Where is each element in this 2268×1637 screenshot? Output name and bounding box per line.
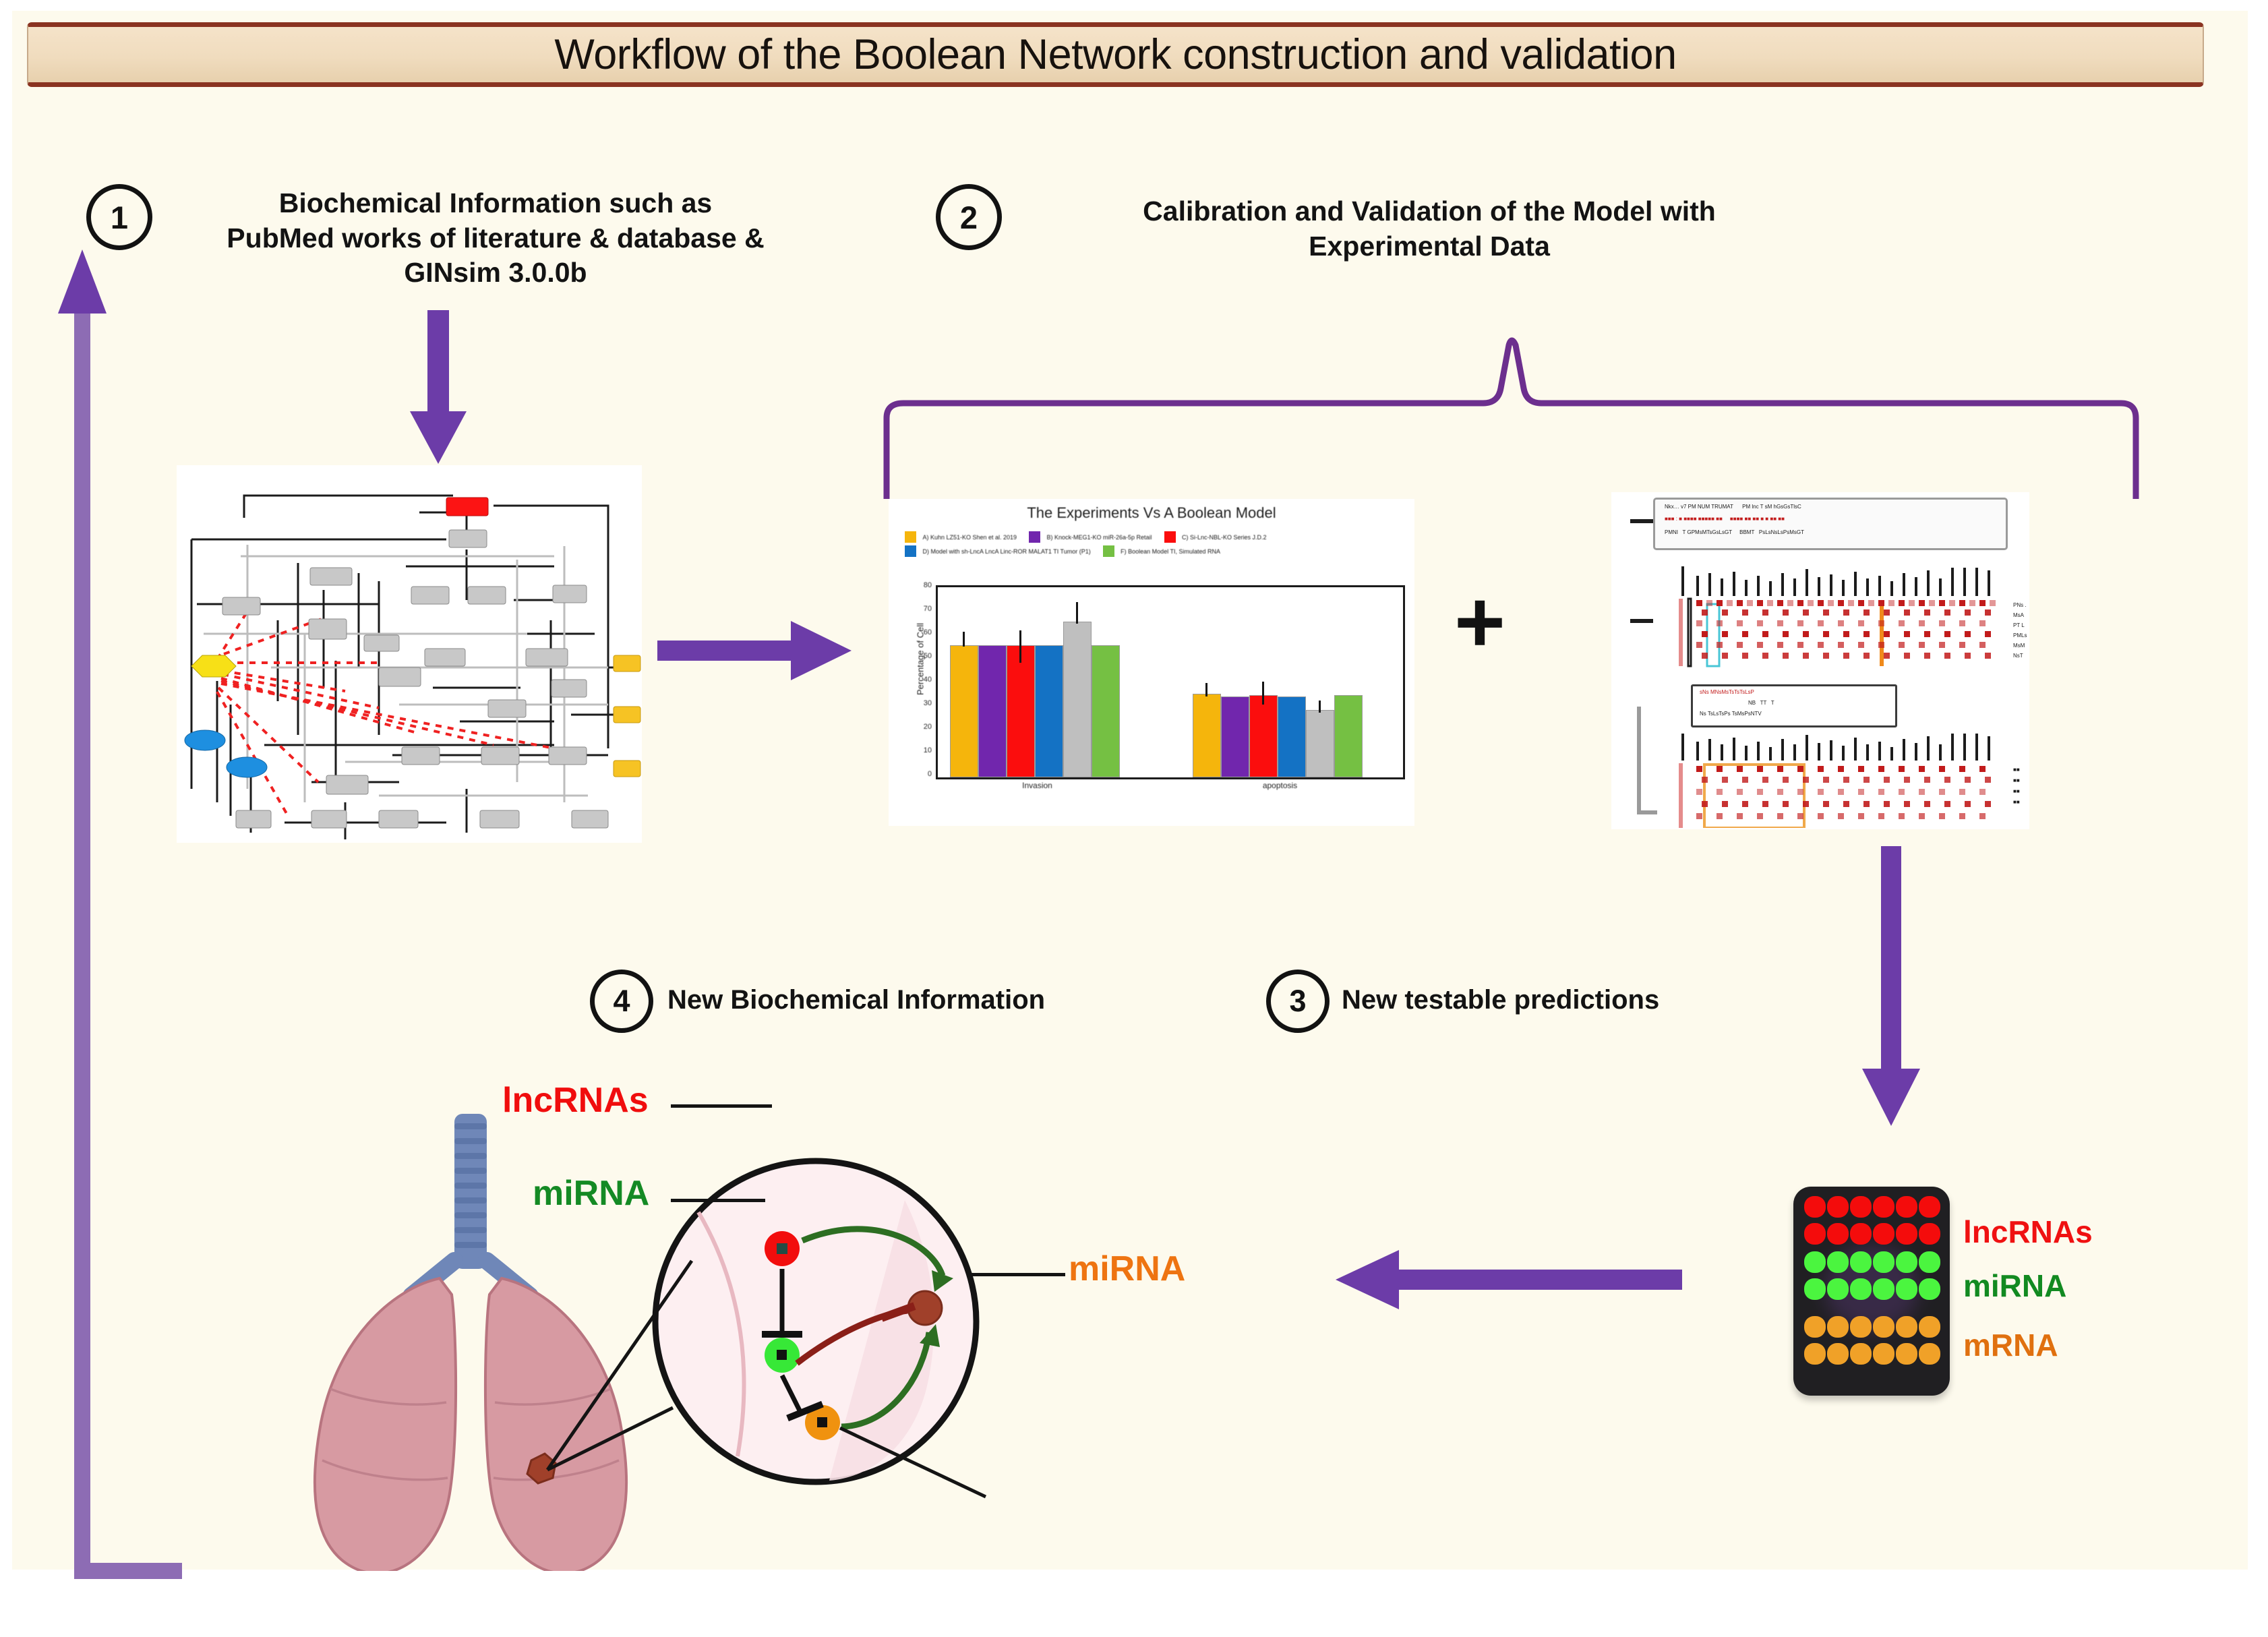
alignment-caption-bottom: sNs MNsMsTsTsTsLsP NB TT T Ns TsLsTsPs T… (1691, 684, 1897, 727)
array-spot (1827, 1343, 1849, 1365)
array-spot (1896, 1196, 1917, 1218)
step-2-badge: 2 (936, 184, 1002, 250)
array-spot (1804, 1251, 1826, 1273)
experiments-vs-model-chart-panel: The Experiments Vs A Boolean Model A) Ku… (889, 499, 1414, 826)
array-spot (1804, 1316, 1826, 1338)
step-3-number: 3 (1289, 984, 1306, 1019)
error-bar (1319, 701, 1321, 713)
y-tick: 20 (924, 723, 932, 731)
array-spot (1896, 1251, 1917, 1273)
step-3-heading: New testable predictions (1342, 983, 1773, 1017)
bar (1249, 695, 1278, 777)
error-bar (1205, 683, 1207, 696)
array-spot (1827, 1223, 1849, 1245)
legend-swatch-icon (1029, 531, 1040, 543)
cell-leader-mirna-green (671, 1199, 765, 1202)
cell-label-lncrnas: lncRNAs (502, 1080, 649, 1121)
y-tick: 60 (924, 628, 932, 636)
alignment-heatmap-bottom: ■■■■■■■■ (1679, 734, 2016, 828)
bar-group-invasion (950, 587, 1129, 777)
step-2-line-1: Calibration and Validation of the Model … (1032, 194, 1827, 229)
step-3-badge: 3 (1266, 970, 1330, 1033)
array-spot (1873, 1196, 1894, 1218)
step-2-heading: Calibration and Validation of the Model … (1032, 194, 1827, 264)
array-spot (1850, 1196, 1872, 1218)
legend-item: D) Model with sh-LncA LncA Linc-ROR MALA… (905, 545, 1091, 558)
array-spot (1896, 1316, 1917, 1338)
error-bar (1019, 630, 1021, 663)
array-spot (1873, 1223, 1894, 1245)
figure-title-banner: Workflow of the Boolean Network construc… (27, 22, 2204, 87)
array-spot (1850, 1316, 1872, 1338)
array-spot (1896, 1343, 1917, 1365)
array-spot (1873, 1316, 1894, 1338)
step-1-heading: Biochemical Information such as PubMed w… (165, 186, 826, 291)
arrow-down-to-microarray (1847, 846, 1935, 1129)
microarray-label-mirna: miRNA (1963, 1268, 2066, 1304)
bar (1035, 645, 1063, 777)
legend-label: B) Knock-MEG1-KO miR-26a-5p Retail (1047, 534, 1152, 541)
legend-item: A) Kuhn LZ51-KO Shen et al. 2019 (905, 531, 1017, 543)
array-spot (1850, 1343, 1872, 1365)
y-tick: 70 (924, 605, 932, 613)
legend-item: F) Boolean Model TI, Simulated RNA (1103, 545, 1220, 558)
array-spot (1919, 1316, 1940, 1338)
lung-cell-illustration (290, 1038, 1045, 1571)
alignment-bracket-foot (1637, 810, 1657, 814)
array-spot (1919, 1223, 1940, 1245)
bar (1221, 696, 1249, 777)
alignment-bracket-left-top (1630, 519, 1653, 523)
legend-swatch-icon (905, 531, 916, 543)
chart-x-tick-invasion: Invasion (948, 781, 1127, 790)
page-title: Workflow of the Boolean Network construc… (554, 30, 1676, 79)
plus-sign-icon: + (1443, 587, 1517, 657)
array-spot (1804, 1196, 1826, 1218)
bar (1334, 695, 1363, 777)
legend-label: C) Si-Lnc-NBL-KO Series J.D.2 (1182, 534, 1267, 541)
array-spot (1804, 1223, 1826, 1245)
boolean-network-panel (177, 465, 642, 843)
y-tick: 50 (924, 652, 932, 660)
alignment-truth-table-panel: Nkx… v7 PM NUM TRUMAT PM lnc T sM hGsGsT… (1611, 492, 2029, 829)
array-spot (1827, 1196, 1849, 1218)
arrow-down-to-network (398, 310, 479, 465)
array-spot (1827, 1251, 1849, 1273)
array-spot (1850, 1251, 1872, 1273)
figure-root: Workflow of the Boolean Network construc… (0, 0, 2268, 1637)
legend-item: C) Si-Lnc-NBL-KO Series J.D.2 (1164, 531, 1267, 543)
legend-label: F) Boolean Model TI, Simulated RNA (1121, 548, 1220, 555)
step-2-brace (870, 330, 2151, 499)
microarray-label-mrna: mRNA (1963, 1327, 2058, 1363)
alignment-row-labels-bottom: ■■■■■■■■ (2013, 765, 2029, 808)
bar-group-apoptosis (1193, 587, 1371, 777)
chart-title: The Experiments Vs A Boolean Model (889, 504, 1414, 522)
array-spot (1919, 1278, 1940, 1300)
step-4-badge: 4 (590, 970, 653, 1033)
microarray-chip (1793, 1187, 1950, 1396)
y-tick: 10 (924, 746, 932, 754)
legend-label: A) Kuhn LZ51-KO Shen et al. 2019 (922, 534, 1017, 541)
bar (1306, 710, 1334, 777)
microarray-label-lncrnas: lncRNAs (1963, 1214, 2093, 1250)
step-4-number: 4 (613, 984, 630, 1019)
error-bar (963, 632, 965, 647)
step-1-line-1: Biochemical Information such as (165, 186, 826, 221)
error-bar (1076, 602, 1078, 624)
chart-x-tick-apoptosis: apoptosis (1191, 781, 1369, 790)
bar (1007, 645, 1035, 777)
alignment-caption-top: Nkx… v7 PM NUM TRUMAT PM lnc T sM hGsGsT… (1653, 498, 2008, 550)
bar (978, 645, 1007, 777)
cell-label-mirna-orange: miRNA (1069, 1249, 1185, 1289)
array-spot (1827, 1316, 1849, 1338)
array-spot (1850, 1223, 1872, 1245)
cell-leader-lncrnas (671, 1104, 772, 1108)
arrow-left-to-cell (1332, 1239, 1682, 1320)
alignment-bracket-left-bottom (1637, 707, 1641, 814)
step-1-line-2: PubMed works of literature & database & (165, 221, 826, 256)
chart-plot-area (936, 585, 1405, 779)
y-tick: 40 (924, 676, 932, 684)
array-spot (1873, 1343, 1894, 1365)
step-4-heading: New Biochemical Information (667, 983, 1153, 1017)
legend-item: B) Knock-MEG1-KO miR-26a-5p Retail (1029, 531, 1152, 543)
array-spot (1896, 1223, 1917, 1245)
bar (1193, 694, 1221, 777)
array-spot (1896, 1278, 1917, 1300)
y-tick: 30 (924, 699, 932, 707)
arrow-return-to-step-1 (47, 222, 236, 1591)
y-tick: 80 (924, 581, 932, 589)
step-1-line-3: GINsim 3.0.0b (165, 256, 826, 291)
array-spot (1919, 1251, 1940, 1273)
cell-label-mirna-green: miRNA (533, 1173, 649, 1214)
array-spot (1919, 1196, 1940, 1218)
array-spot (1827, 1278, 1849, 1300)
alignment-heatmap-top: PNs .MsAPT LPMLsMsMNsT (1679, 566, 2016, 667)
y-tick: 0 (928, 770, 932, 778)
step-2-line-2: Experimental Data (1032, 229, 1827, 264)
bar (950, 645, 978, 777)
alignment-row-labels-top: PNs .MsAPT LPMLsMsMNsT (2013, 600, 2029, 661)
array-spot (1804, 1343, 1826, 1365)
cell-leader-mirna-orange (971, 1273, 1065, 1276)
legend-label: D) Model with sh-LncA LncA Linc-ROR MALA… (922, 548, 1090, 555)
error-bar (1262, 682, 1264, 705)
alignment-bracket-left-mid (1630, 619, 1653, 623)
chart-legend: A) Kuhn LZ51-KO Shen et al. 2019 B) Knoc… (905, 531, 1404, 558)
array-spot (1873, 1251, 1894, 1273)
array-spot (1919, 1343, 1940, 1365)
bar (1092, 645, 1120, 777)
arrow-right-to-chart (657, 610, 853, 691)
step-2-number: 2 (960, 199, 978, 236)
legend-swatch-icon (1164, 531, 1176, 543)
array-spot (1850, 1278, 1872, 1300)
array-spot (1804, 1278, 1826, 1300)
legend-swatch-icon (905, 545, 916, 557)
chart-y-ticks: 80 70 60 50 40 30 20 10 0 (902, 585, 932, 774)
bar (1278, 696, 1306, 777)
legend-swatch-icon (1103, 545, 1114, 557)
bar (1063, 622, 1092, 777)
array-spot (1873, 1278, 1894, 1300)
